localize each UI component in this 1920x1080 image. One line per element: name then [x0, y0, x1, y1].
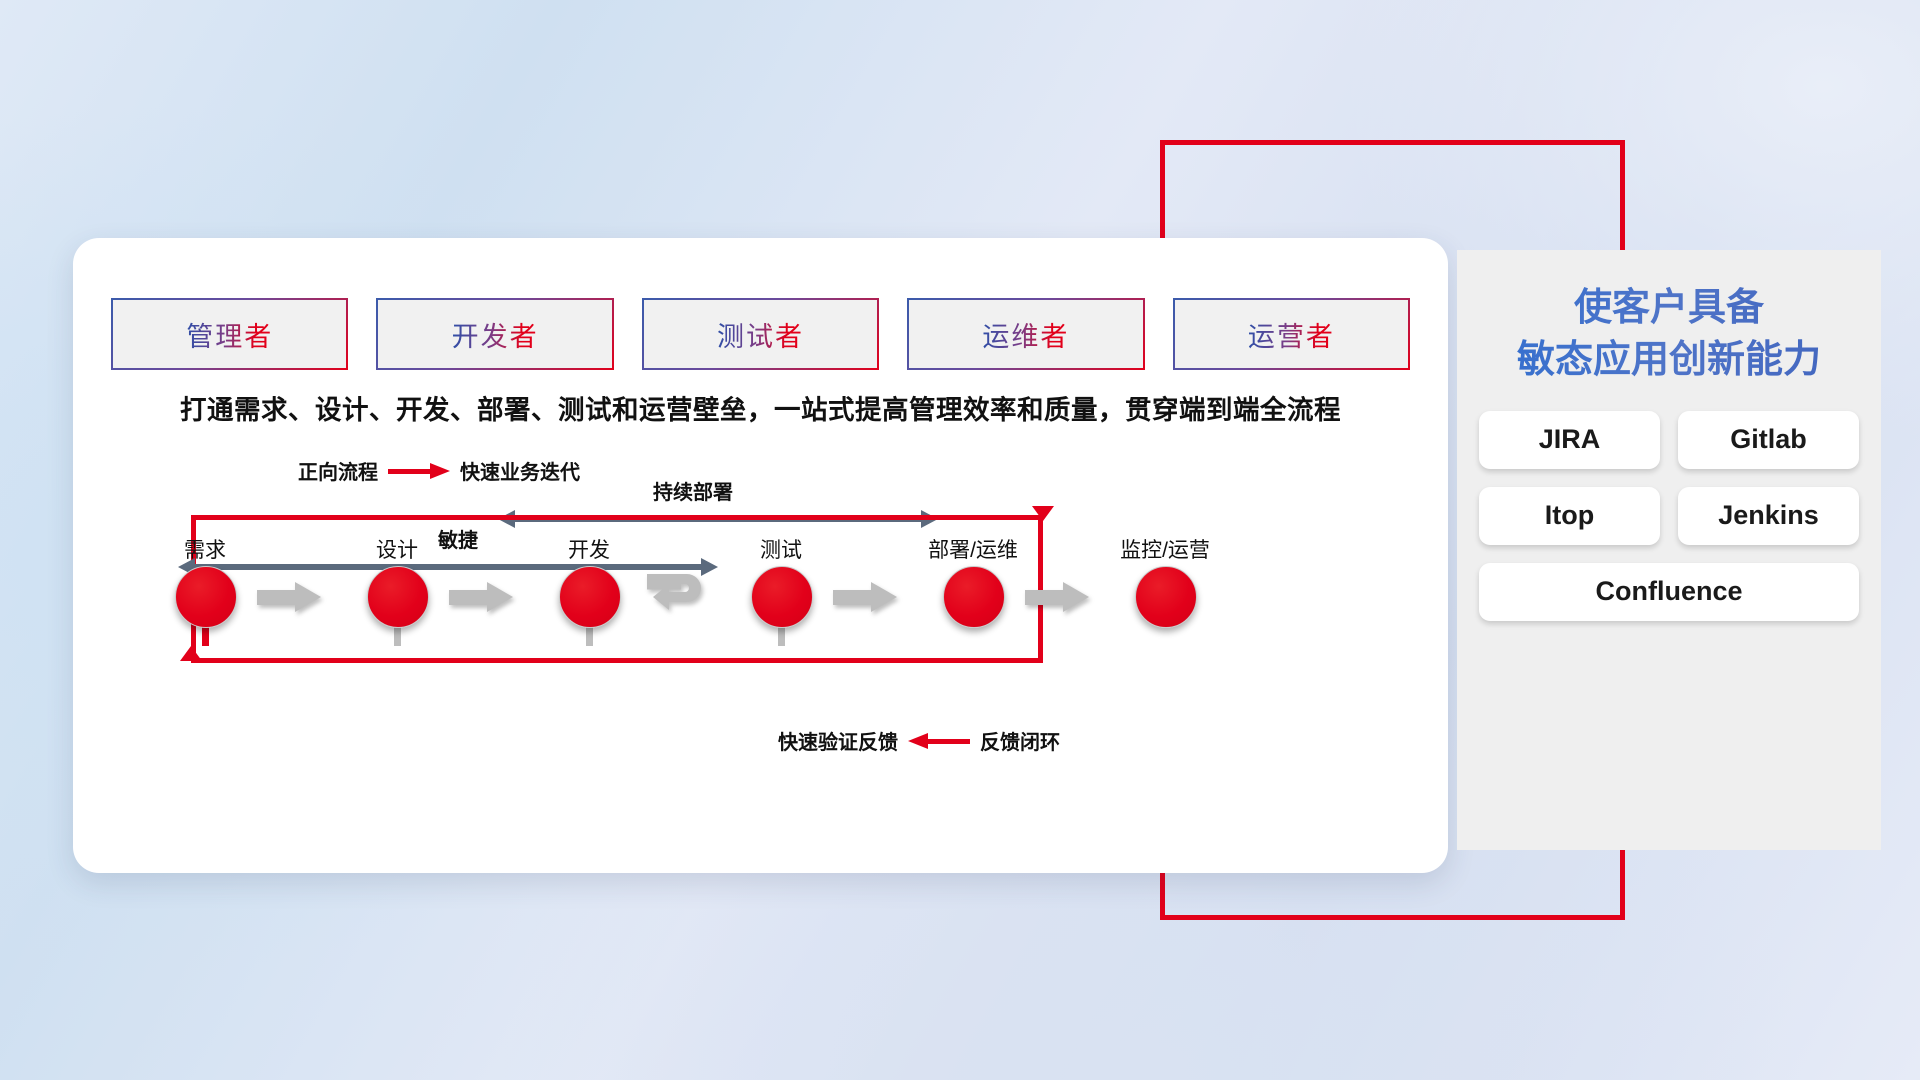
flow-node-deploy-ops[interactable]	[943, 566, 1005, 628]
tool-badge-confluence[interactable]: Confluence	[1479, 563, 1859, 621]
flow-node-label: 需求	[184, 534, 226, 564]
feedback-target-label: 反馈闭环	[980, 726, 1060, 755]
flow-node-label: 测试	[760, 534, 802, 564]
flow-arrow-icon	[1025, 582, 1089, 612]
flow-node-label: 部署/运维	[928, 534, 1018, 564]
role-label: 管理者	[186, 315, 273, 354]
tool-badge-jenkins[interactable]: Jenkins	[1678, 487, 1859, 545]
panel-title-line1: 使客户具备	[1457, 282, 1881, 334]
role-label: 运营者	[1248, 315, 1335, 354]
devops-flow: 需求 设计 开发 测试 部署/运维 监控/运营	[147, 538, 1182, 658]
role-box-developer[interactable]: 开发者	[378, 300, 611, 368]
tool-badge-itop[interactable]: Itop	[1479, 487, 1660, 545]
role-box-operations[interactable]: 运营者	[1175, 300, 1408, 368]
panel-title: 使客户具备 敏态应用创新能力	[1457, 250, 1881, 387]
loop-arrow-down-icon	[1032, 506, 1054, 521]
flow-node-label: 设计	[376, 534, 418, 564]
tool-badge-jira[interactable]: JIRA	[1479, 411, 1660, 469]
slide-canvas: 管理者 开发者 测试者 运维者 运营者 打通需求、设计、开发、部署、测试和运营壁…	[0, 0, 1920, 1080]
tool-badge-gitlab[interactable]: Gitlab	[1678, 411, 1859, 469]
feedback-annotation: 快速验证反馈 反馈闭环	[778, 726, 1060, 755]
flow-arrow-icon	[257, 582, 321, 612]
role-box-ops[interactable]: 运维者	[909, 300, 1142, 368]
forward-flow-target-label: 快速业务迭代	[460, 456, 580, 485]
flow-node-requirement[interactable]	[175, 566, 237, 628]
panel-title-line2: 敏态应用创新能力	[1457, 334, 1881, 386]
flow-node-monitor-operations[interactable]	[1135, 566, 1197, 628]
tool-list: JIRA Gitlab Itop Jenkins Confluence	[1457, 387, 1881, 621]
tool-label: Itop	[1545, 500, 1594, 531]
flow-node-label: 监控/运营	[1120, 534, 1210, 564]
tool-label: Confluence	[1595, 576, 1742, 607]
flow-node-label: 开发	[568, 534, 610, 564]
flow-node-development[interactable]	[559, 566, 621, 628]
feedback-source-label: 快速验证反馈	[778, 726, 898, 755]
tool-label: Jenkins	[1718, 500, 1819, 531]
arrow-left-red-icon	[908, 736, 970, 746]
flow-arrow-icon	[449, 582, 513, 612]
role-box-tester[interactable]: 测试者	[644, 300, 877, 368]
role-box-manager[interactable]: 管理者	[113, 300, 346, 368]
continuous-deployment-label: 持续部署	[653, 476, 733, 505]
forward-flow-source-label: 正向流程	[298, 456, 378, 485]
headline-text: 打通需求、设计、开发、部署、测试和运营壁垒，一站式提高管理效率和质量，贯穿端到端…	[73, 388, 1448, 427]
value-panel: 使客户具备 敏态应用创新能力 JIRA Gitlab Itop Jenkins …	[1457, 250, 1881, 850]
role-label: 开发者	[452, 315, 539, 354]
iteration-loop-arrow-icon	[645, 566, 723, 622]
role-label: 测试者	[717, 315, 804, 354]
role-label: 运维者	[982, 315, 1069, 354]
role-box-list: 管理者 开发者 测试者 运维者 运营者	[113, 300, 1408, 368]
tool-label: JIRA	[1539, 424, 1601, 455]
arrow-right-red-icon	[388, 466, 450, 476]
flow-node-design[interactable]	[367, 566, 429, 628]
main-card: 管理者 开发者 测试者 运维者 运营者 打通需求、设计、开发、部署、测试和运营壁…	[73, 238, 1448, 873]
forward-flow-annotation: 正向流程 快速业务迭代	[298, 456, 580, 485]
flow-arrow-icon	[833, 582, 897, 612]
tool-label: Gitlab	[1730, 424, 1807, 455]
flow-node-testing[interactable]	[751, 566, 813, 628]
